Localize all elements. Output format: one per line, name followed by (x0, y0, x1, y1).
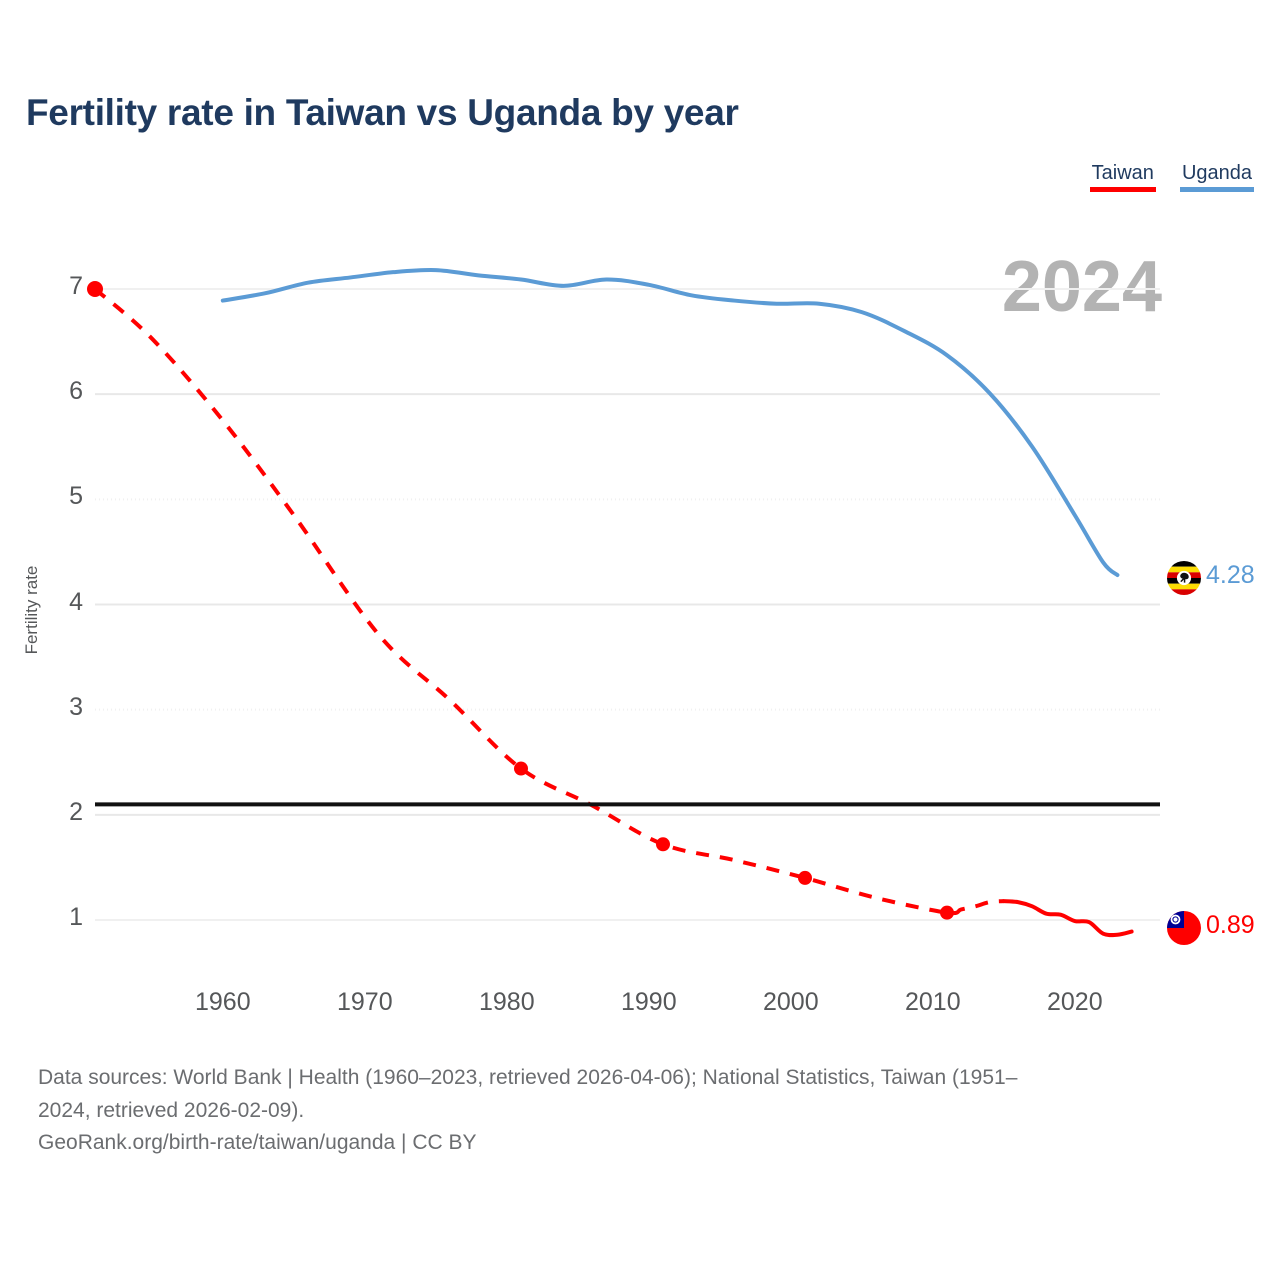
series-marker (87, 281, 103, 297)
series-marker (798, 871, 812, 885)
x-tick-label: 2010 (878, 988, 988, 1017)
series-line-taiwan-dashed (95, 289, 1004, 913)
series-marker (514, 762, 528, 776)
series-line-taiwan-solid (1004, 901, 1132, 935)
footer-line-1: Data sources: World Bank | Health (1960–… (38, 1062, 1258, 1095)
x-tick-label: 2020 (1020, 988, 1130, 1017)
x-tick-label: 1960 (168, 988, 278, 1017)
y-tick-label: 7 (43, 272, 83, 301)
uganda-flag-icon (1167, 561, 1201, 595)
series-layer (87, 270, 1132, 935)
y-tick-label: 1 (43, 903, 83, 932)
x-tick-label: 1990 (594, 988, 704, 1017)
taiwan-endpoint-value: 0.89 (1206, 911, 1255, 940)
y-tick-label: 3 (43, 693, 83, 722)
taiwan-flag-icon (1167, 911, 1201, 945)
y-tick-label: 4 (43, 588, 83, 617)
y-axis-title: Fertility rate (22, 540, 42, 680)
x-tick-label: 1970 (310, 988, 420, 1017)
x-tick-label: 2000 (736, 988, 846, 1017)
gridlines (95, 289, 1160, 920)
footer-line-3[interactable]: GeoRank.org/birth-rate/taiwan/uganda | C… (38, 1127, 1258, 1160)
series-marker (656, 837, 670, 851)
footer-line-2: 2024, retrieved 2026-02-09). (38, 1095, 1258, 1128)
uganda-endpoint-value: 4.28 (1206, 561, 1255, 590)
y-tick-label: 2 (43, 798, 83, 827)
series-marker (940, 906, 954, 920)
series-line-uganda (223, 270, 1118, 575)
y-tick-label: 5 (43, 482, 83, 511)
footer-sources: Data sources: World Bank | Health (1960–… (38, 1062, 1258, 1160)
x-tick-label: 1980 (452, 988, 562, 1017)
y-tick-label: 6 (43, 377, 83, 406)
